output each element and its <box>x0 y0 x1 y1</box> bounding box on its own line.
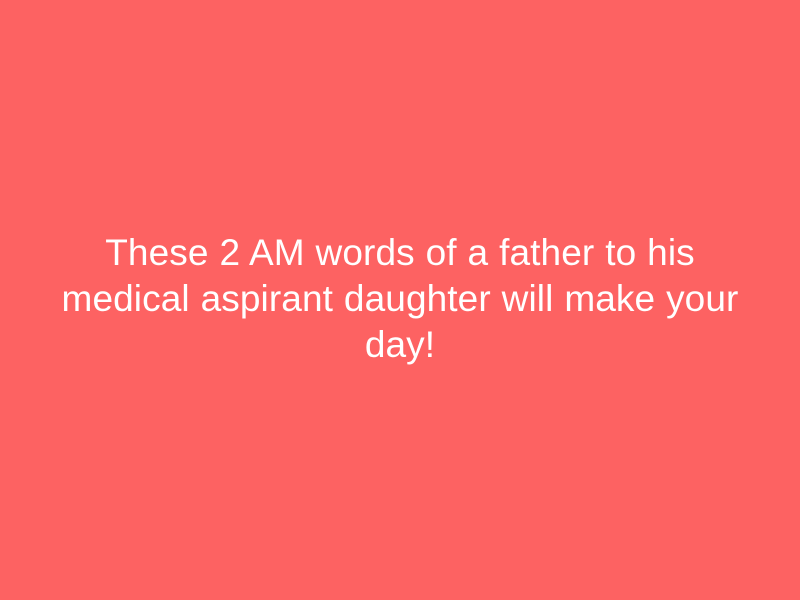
headline-block: These 2 AM words of a father to his medi… <box>50 230 750 368</box>
page-title: These 2 AM words of a father to his medi… <box>50 230 750 368</box>
headline-card: These 2 AM words of a father to his medi… <box>0 0 800 600</box>
